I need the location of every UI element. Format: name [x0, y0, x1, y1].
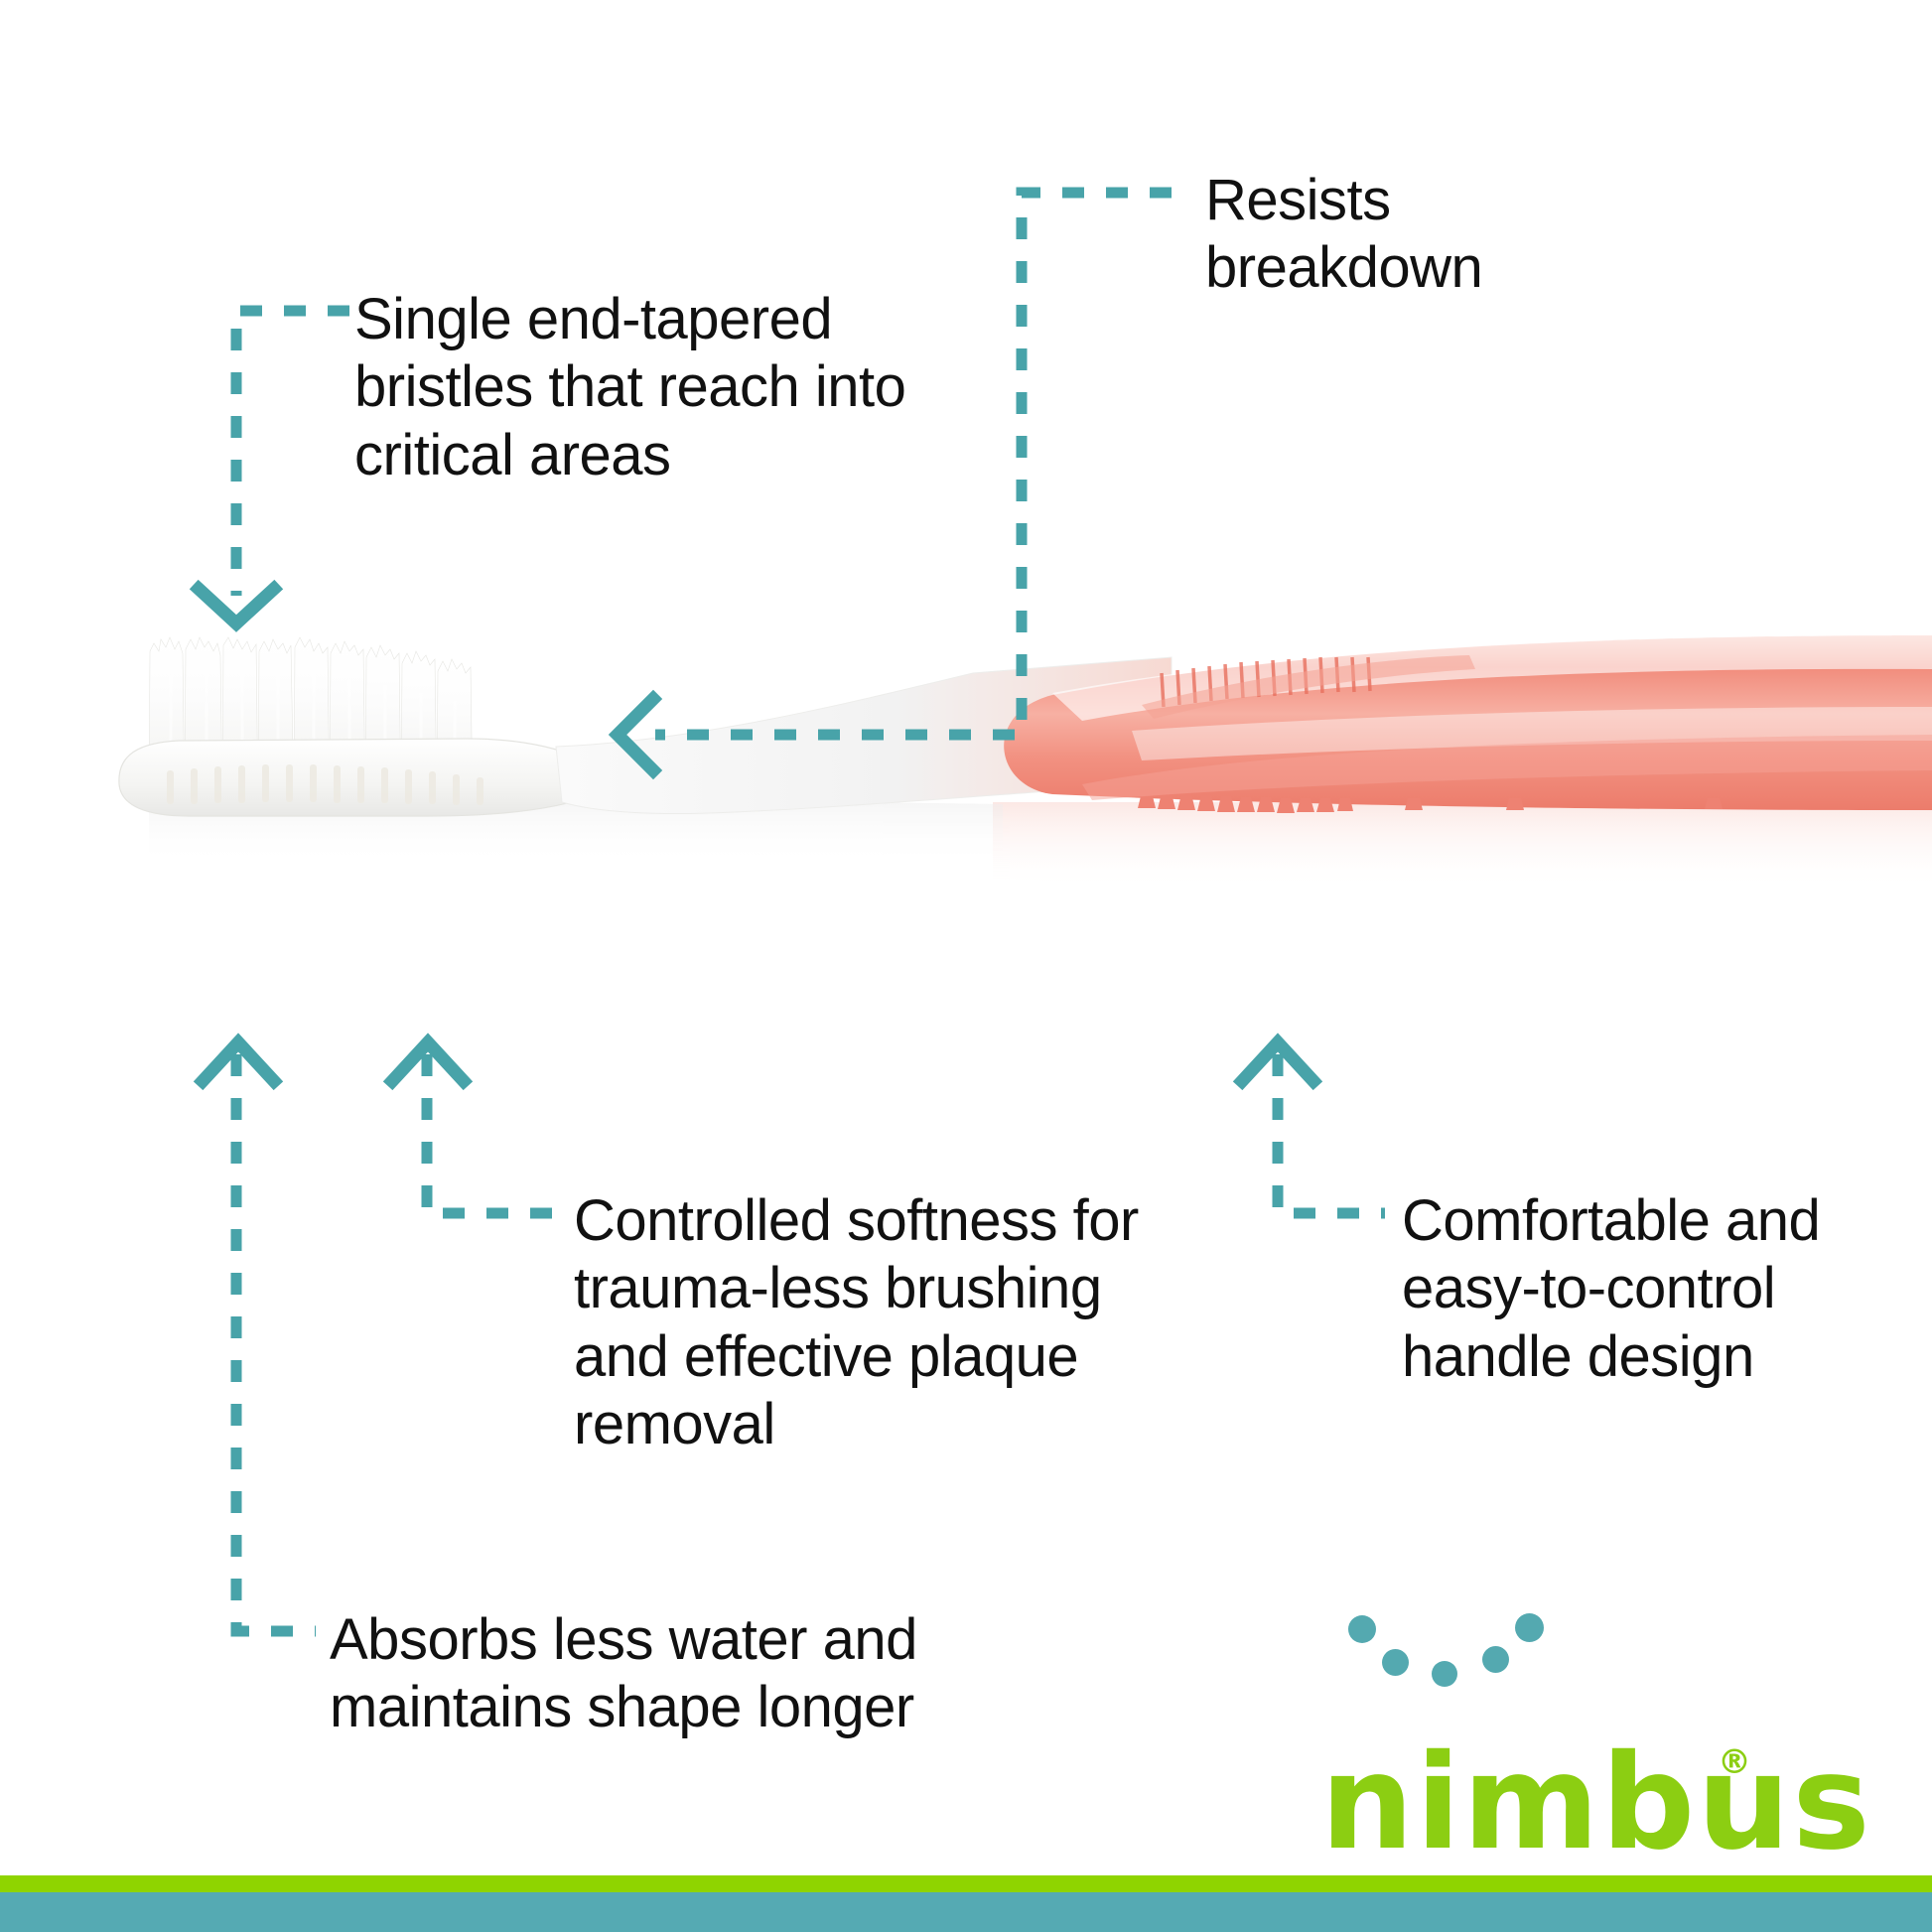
arrowhead-down-bristles	[199, 589, 274, 623]
callout-resists-breakdown: Resists breakdown	[1205, 167, 1622, 303]
logo-dot-5	[1515, 1613, 1544, 1642]
footer-bar-green	[0, 1875, 1932, 1892]
logo-dot-2	[1382, 1649, 1409, 1676]
logo-registered-mark: ®	[1718, 1742, 1751, 1782]
footer-bar-teal	[0, 1892, 1932, 1932]
callout-single-end-tapered: Single end-tapered bristles that reach i…	[354, 286, 960, 489]
toothbrush-product-image	[0, 635, 1932, 1191]
nimbus-logo: nimbus ®	[1320, 1613, 1787, 1881]
logo-dot-1	[1348, 1615, 1376, 1643]
logo-dot-3	[1432, 1661, 1457, 1687]
callout-controlled-softness: Controlled softness for trauma-less brus…	[574, 1187, 1160, 1459]
infographic-canvas: Single end-tapered bristles that reach i…	[0, 0, 1932, 1932]
callout-absorbs-less-water: Absorbs less water and maintains shape l…	[330, 1606, 945, 1742]
logo-wordmark: nimbus	[1320, 1737, 1872, 1868]
logo-dot-4	[1482, 1646, 1509, 1673]
callout-comfortable-handle: Comfortable and easy-to-control handle d…	[1402, 1187, 1829, 1391]
